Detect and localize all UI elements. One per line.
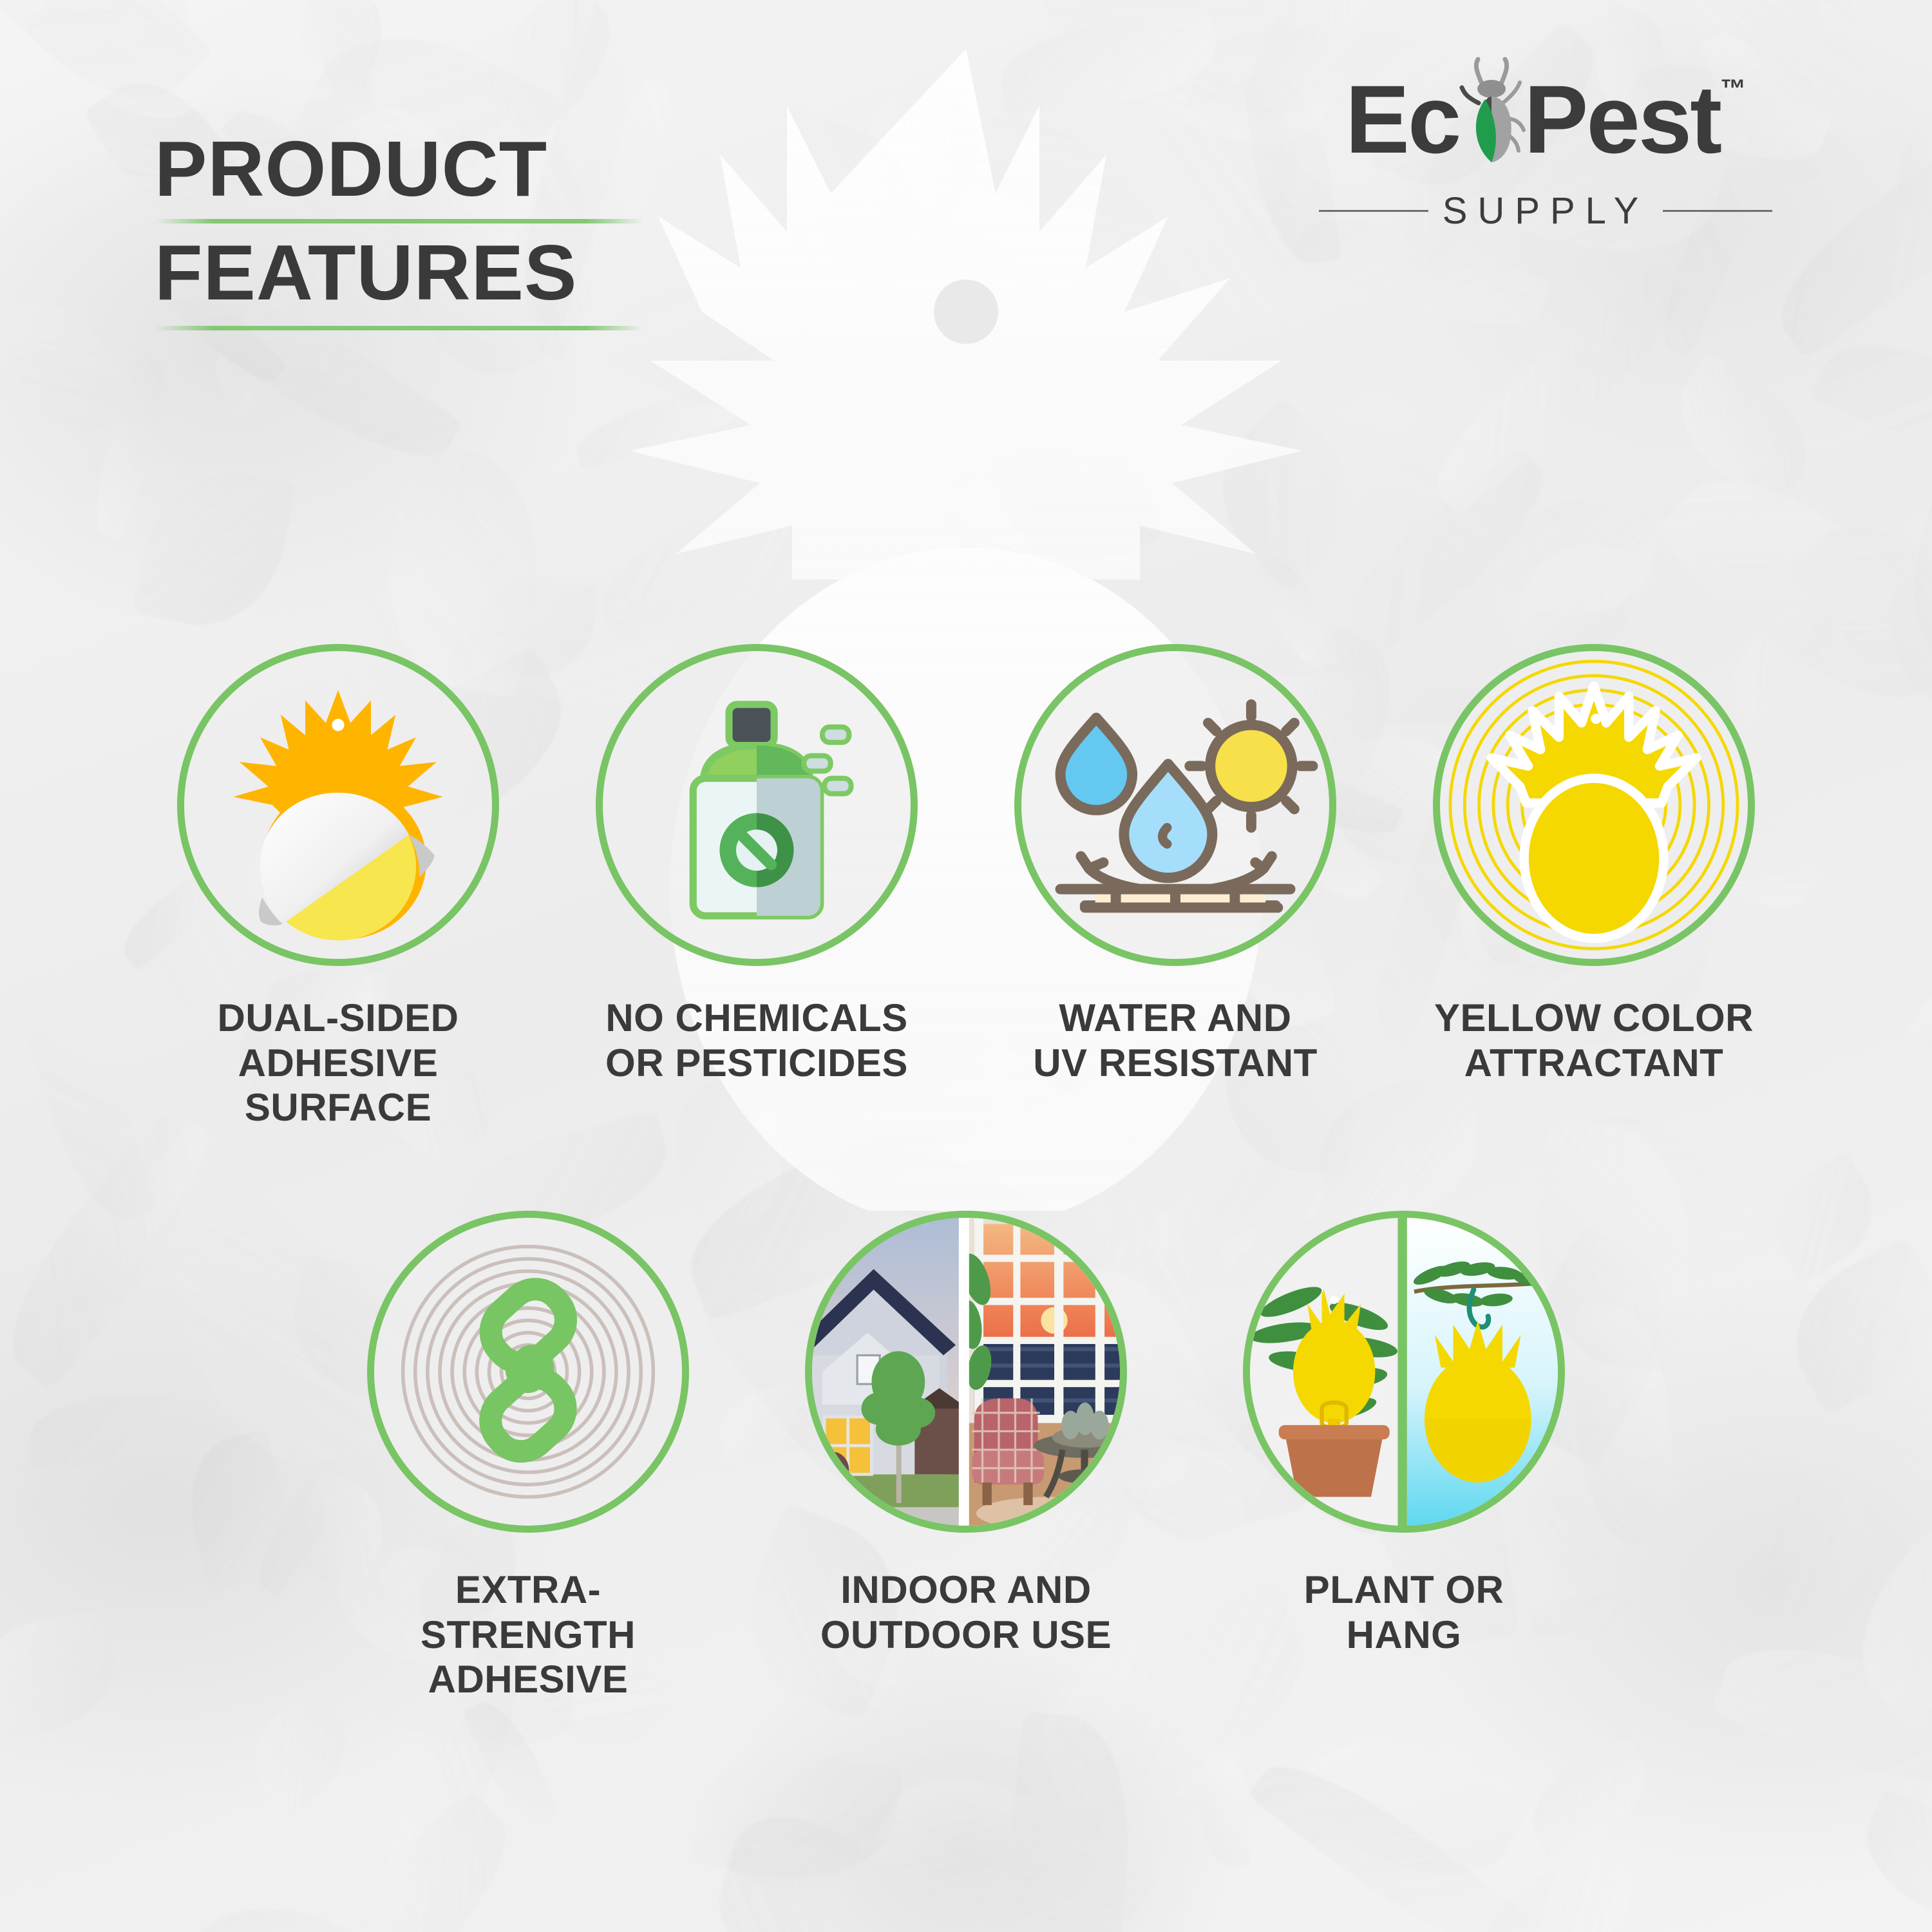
logo-word-pest: Pest [1524,71,1720,167]
feature-row-1: DUAL-SIDED ADHESIVE SURFACE [0,644,1932,1130]
no-chemicals-spray-can-icon [603,651,911,959]
feature-icon-bubble [177,644,499,966]
page-title-line-1: PRODUCT [155,129,663,209]
infographic-canvas: PRODUCT FEATURES Ec [0,0,1932,1932]
indoor-outdoor-split-icon [812,1218,1120,1526]
logo-rule-left [1319,210,1428,212]
feature-item-plant-or-hang[interactable]: PLANT OR HANG [1230,1211,1578,1702]
yellow-color-attractant-icon [1440,651,1748,959]
water-uv-resistant-icon [1021,651,1329,959]
feature-item-no-chemicals[interactable]: NO CHEMICALS OR PESTICIDES [583,644,931,1130]
title-divider-bottom [155,326,644,330]
feature-row-2: EXTRA-STRENGTH ADHESIVE [0,1211,1932,1702]
bug-leaf-icon [1457,57,1526,166]
chain-link-strength-icon [374,1218,682,1526]
title-divider-top [155,219,644,223]
feature-item-extra-strength-adhesive[interactable]: EXTRA-STRENGTH ADHESIVE [354,1211,702,1702]
logo-rule-right [1663,210,1772,212]
feature-label: DUAL-SIDED ADHESIVE SURFACE [164,996,512,1130]
feature-label: PLANT OR HANG [1304,1567,1504,1657]
logo-word-eco: Ec [1345,71,1459,167]
feature-icon-bubble [805,1211,1127,1533]
feature-item-dual-sided-adhesive[interactable]: DUAL-SIDED ADHESIVE SURFACE [164,644,512,1130]
feature-label: INDOOR AND OUTDOOR USE [820,1567,1112,1657]
logo-tagline: SUPPLY [1443,189,1649,232]
plant-or-hang-split-icon [1250,1218,1558,1526]
page-title-line-2: FEATURES [155,232,663,312]
feature-label: WATER AND UV RESISTANT [1033,996,1318,1085]
feature-item-yellow-color-attractant[interactable]: YELLOW COLOR ATTRACTANT [1420,644,1768,1130]
dual-sided-adhesive-icon [184,651,492,959]
feature-item-water-uv-resistant[interactable]: WATER AND UV RESISTANT [1001,644,1349,1130]
feature-label: YELLOW COLOR ATTRACTANT [1434,996,1754,1085]
feature-item-indoor-outdoor-use[interactable]: INDOOR AND OUTDOOR USE [792,1211,1140,1702]
page-title-block: PRODUCT FEATURES [155,129,663,330]
feature-icon-bubble [1243,1211,1565,1533]
feature-label: NO CHEMICALS OR PESTICIDES [605,996,908,1085]
feature-label: EXTRA-STRENGTH ADHESIVE [354,1567,702,1702]
feature-icon-bubble [596,644,918,966]
feature-icon-bubble [1433,644,1755,966]
brand-logo[interactable]: Ec [1288,71,1803,232]
feature-icon-bubble [367,1211,689,1533]
trademark-symbol: ™ [1720,76,1746,102]
feature-icon-bubble [1014,644,1336,966]
